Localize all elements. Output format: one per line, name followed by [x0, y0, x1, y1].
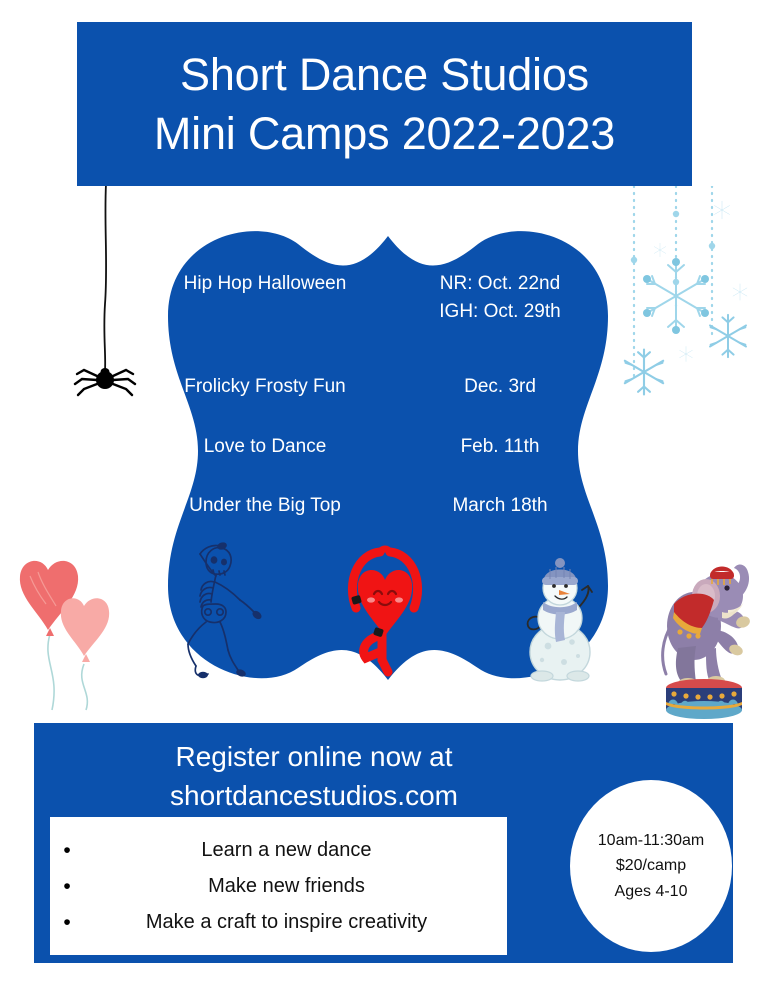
- camp-date-line-1: March 18th: [390, 492, 610, 520]
- schedule-row: Under the Big Top March 18th: [140, 492, 630, 520]
- benefit-text: Learn a new dance: [84, 835, 507, 865]
- snowman-icon: [512, 552, 608, 688]
- camp-date: Feb. 11th: [390, 433, 610, 461]
- benefit-text: Make new friends: [84, 871, 507, 901]
- camp-name: Hip Hop Halloween: [140, 270, 390, 298]
- benefits-box: • Learn a new dance • Make new friends •…: [50, 817, 507, 955]
- bullet-icon: •: [50, 840, 84, 861]
- register-line-1: Register online now at: [34, 737, 594, 776]
- register-heading: Register online now at shortdancestudios…: [34, 737, 594, 815]
- title-line-1: Short Dance Studios: [180, 45, 589, 104]
- bullet-icon: •: [50, 912, 84, 933]
- benefit-item: • Make new friends: [50, 871, 507, 901]
- flyer-canvas: Short Dance Studios Mini Camps 2022-2023: [0, 0, 768, 994]
- circus-elephant-icon: [648, 552, 760, 724]
- camp-name: Frolicky Frosty Fun: [140, 373, 390, 401]
- camp-schedule: Hip Hop Halloween NR: Oct. 22nd IGH: Oct…: [140, 270, 630, 520]
- bullet-icon: •: [50, 876, 84, 897]
- schedule-row: Frolicky Frosty Fun Dec. 3rd: [140, 373, 630, 401]
- balloons-decoration: [12, 552, 132, 712]
- details-badge: 10am-11:30am $20/camp Ages 4-10: [570, 780, 732, 952]
- camp-date: NR: Oct. 22nd IGH: Oct. 29th: [390, 270, 610, 325]
- camp-name: Under the Big Top: [140, 492, 390, 520]
- camp-date-line-1: Feb. 11th: [390, 433, 610, 461]
- camp-date: March 18th: [390, 492, 610, 520]
- benefit-item: • Learn a new dance: [50, 835, 507, 865]
- dancing-skeleton-icon: [168, 532, 273, 682]
- spider-icon: [72, 184, 142, 404]
- badge-ages: Ages 4-10: [615, 879, 688, 905]
- schedule-row: Love to Dance Feb. 11th: [140, 433, 630, 461]
- benefit-item: • Make a craft to inspire creativity: [50, 907, 507, 937]
- title-line-2: Mini Camps 2022-2023: [154, 104, 615, 163]
- elephant-decoration: [648, 552, 760, 724]
- register-website[interactable]: shortdancestudios.com: [34, 776, 594, 815]
- camp-date-line-2: IGH: Oct. 29th: [390, 298, 610, 326]
- badge-price: $20/camp: [616, 853, 686, 879]
- camp-name: Love to Dance: [140, 433, 390, 461]
- schedule-row: Hip Hop Halloween NR: Oct. 22nd IGH: Oct…: [140, 270, 630, 325]
- spider-decoration: [72, 184, 142, 404]
- dancing-heart-icon: [330, 540, 440, 680]
- benefit-text: Make a craft to inspire creativity: [84, 907, 507, 937]
- skeleton-decoration: [168, 532, 273, 682]
- heart-balloons-icon: [12, 552, 132, 712]
- registration-banner: Register online now at shortdancestudios…: [34, 723, 733, 963]
- camp-date: Dec. 3rd: [390, 373, 610, 401]
- snowman-decoration: [512, 552, 608, 688]
- badge-time: 10am-11:30am: [598, 828, 704, 854]
- title-banner: Short Dance Studios Mini Camps 2022-2023: [77, 22, 692, 186]
- heart-dancer-decoration: [330, 540, 440, 680]
- camp-date-line-1: NR: Oct. 22nd: [390, 270, 610, 298]
- camp-date-line-1: Dec. 3rd: [390, 373, 610, 401]
